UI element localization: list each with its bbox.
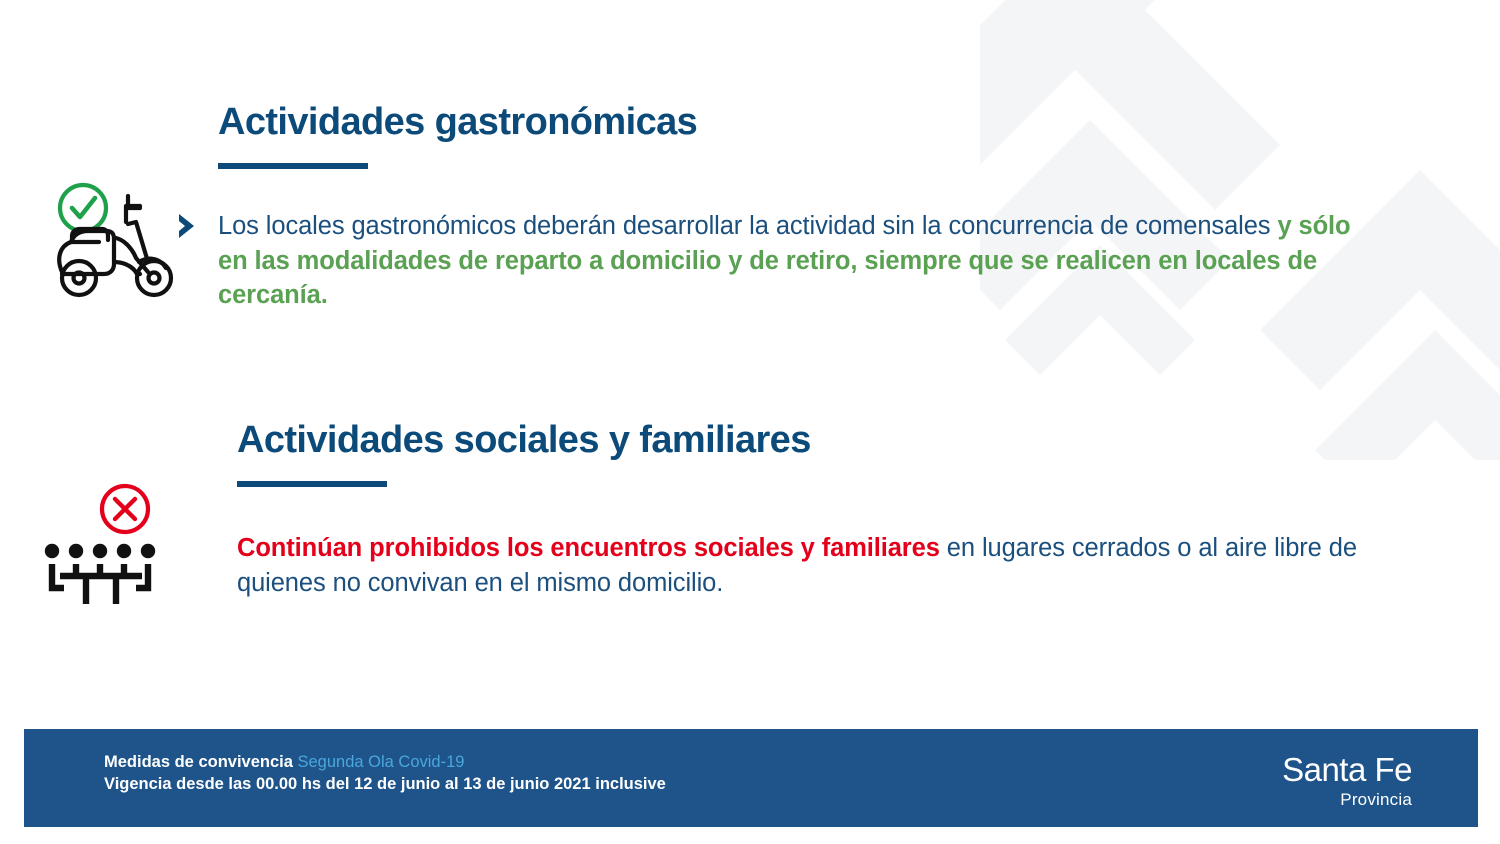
footer-bar: Medidas de convivencia Segunda Ola Covid… [24, 729, 1478, 827]
footer-text-block: Medidas de convivencia Segunda Ola Covid… [104, 751, 666, 796]
section-gastronomicas: Actividades gastronómicas [218, 103, 697, 169]
section-sociales-familiares: Actividades sociales y familiares [237, 421, 811, 487]
slide-canvas: Actividades gastronómicas [0, 0, 1500, 844]
body-text-normal: Los locales gastronómicos deberán desarr… [218, 212, 1277, 240]
check-circle-badge [60, 185, 106, 231]
footer-title-sub: Segunda Ola Covid-19 [293, 753, 465, 771]
footer-validity: Vigencia desde las 00.00 hs del 12 de ju… [104, 773, 666, 795]
logo-main-text: Santa Fe [1282, 753, 1412, 786]
footer-title-line: Medidas de convivencia Segunda Ola Covid… [104, 751, 666, 773]
footer-title-bold: Medidas de convivencia [104, 753, 293, 771]
gathering-people-icon [38, 478, 164, 606]
scooter-delivery-icon [44, 178, 194, 303]
body-text-highlight-red: Continúan prohibidos los encuentros soci… [237, 534, 940, 562]
santa-fe-logo: Santa Fe Provincia [1282, 753, 1412, 808]
section-title-sociales-familiares: Actividades sociales y familiares [237, 421, 811, 461]
chevron-right-marker [176, 212, 200, 245]
cross-circle-badge [102, 486, 148, 532]
section-rule-sociales-familiares [237, 481, 387, 487]
section-body-gastronomicas: Los locales gastronómicos deberán desarr… [218, 209, 1378, 313]
logo-sub-text: Provincia [1282, 791, 1412, 808]
section-title-gastronomicas: Actividades gastronómicas [218, 103, 697, 143]
section-rule-gastronomicas [218, 163, 368, 169]
section-body-sociales-familiares: Continúan prohibidos los encuentros soci… [237, 531, 1422, 600]
